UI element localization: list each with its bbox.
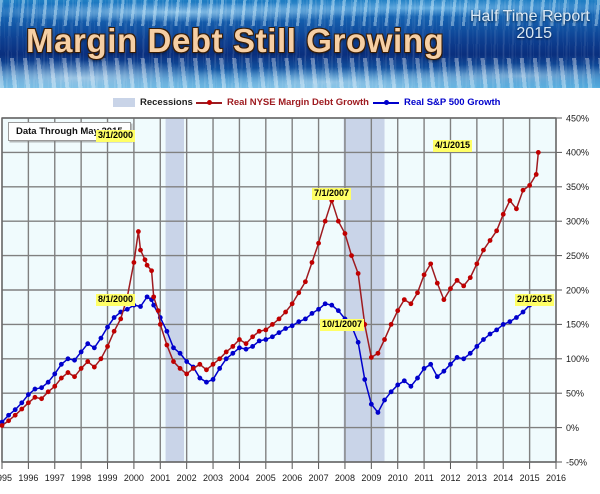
series-point (336, 308, 341, 313)
series-point (310, 311, 315, 316)
series-point (402, 378, 407, 383)
x-tick-label: 1999 (98, 473, 118, 483)
series-point (422, 366, 427, 371)
x-tick-label: 2006 (282, 473, 302, 483)
series-point (310, 260, 315, 265)
series-point (514, 206, 519, 211)
series-point (204, 380, 209, 385)
series-point (441, 297, 446, 302)
series-point (92, 345, 97, 350)
legend-item-recessions: Recessions (113, 97, 193, 108)
series-point (343, 231, 348, 236)
data-callout: 4/1/2015 (433, 140, 472, 152)
series-point (263, 328, 268, 333)
series-point (389, 389, 394, 394)
series-point (507, 198, 512, 203)
x-tick-label: 2014 (493, 473, 513, 483)
series-point (19, 400, 24, 405)
x-tick-label: 2010 (388, 473, 408, 483)
y-tick-label: 100% (566, 354, 589, 364)
x-tick-label: 2016 (546, 473, 566, 483)
series-point (171, 345, 176, 350)
series-point (85, 359, 90, 364)
series-point (112, 329, 117, 334)
series-point (455, 278, 460, 283)
series-point (481, 337, 486, 342)
x-tick-label: 2001 (150, 473, 170, 483)
series-point (184, 359, 189, 364)
series-point (230, 351, 235, 356)
series-point (138, 248, 143, 253)
series-point (448, 362, 453, 367)
series-point (461, 356, 466, 361)
y-tick-label: -50% (566, 457, 587, 467)
series-point (156, 308, 161, 313)
series-point (244, 341, 249, 346)
legend-label-recessions: Recessions (140, 97, 193, 108)
slide-root: Margin Debt Still Growing Half Time Repo… (0, 0, 600, 494)
series-point (534, 172, 539, 177)
series-point (461, 283, 466, 288)
series-point (105, 344, 110, 349)
series-point (178, 351, 183, 356)
series-point (481, 248, 486, 253)
series-point (33, 387, 38, 392)
x-tick-label: 2013 (467, 473, 487, 483)
x-tick-label: 1998 (71, 473, 91, 483)
x-tick-label: 2000 (124, 473, 144, 483)
series-point (164, 343, 169, 348)
series-point (277, 330, 282, 335)
line-marker-icon-blue (373, 98, 399, 107)
series-point (336, 219, 341, 224)
series-point (422, 272, 427, 277)
series-point (211, 362, 216, 367)
line-chart: 450%400%350%300%250%200%150%100%50%0%-50… (0, 112, 600, 494)
series-point (237, 345, 242, 350)
series-point (52, 372, 57, 377)
x-tick-label: 2012 (440, 473, 460, 483)
y-tick-label: 450% (566, 113, 589, 123)
series-point (26, 392, 31, 397)
series-point (6, 418, 11, 423)
report-year: 2015 (516, 25, 552, 43)
series-point (46, 389, 51, 394)
y-tick-label: 50% (566, 389, 584, 399)
series-point (376, 351, 381, 356)
y-tick-label: 150% (566, 320, 589, 330)
x-tick-label: 2004 (229, 473, 249, 483)
series-point (211, 377, 216, 382)
series-point (72, 358, 77, 363)
series-point (494, 328, 499, 333)
x-tick-label: 1995 (0, 473, 12, 483)
series-point (395, 383, 400, 388)
series-point (191, 366, 196, 371)
series-point (474, 261, 479, 266)
series-point (197, 362, 202, 367)
series-point (66, 356, 71, 361)
series-point (376, 410, 381, 415)
legend-label-margin-debt: Real NYSE Margin Debt Growth (227, 97, 369, 108)
series-point (435, 374, 440, 379)
series-point (85, 341, 90, 346)
legend-item-sp500: Real S&P 500 Growth (373, 97, 500, 108)
series-point (270, 334, 275, 339)
x-tick-label: 2005 (256, 473, 276, 483)
series-point (92, 365, 97, 370)
series-point (382, 398, 387, 403)
x-tick-label: 2003 (203, 473, 223, 483)
series-point (415, 290, 420, 295)
y-tick-label: 200% (566, 285, 589, 295)
series-point (52, 384, 57, 389)
series-point (270, 322, 275, 327)
series-point (369, 402, 374, 407)
y-tick-label: 300% (566, 217, 589, 227)
series-point (277, 316, 282, 321)
series-point (39, 396, 44, 401)
series-point (143, 257, 148, 262)
series-point (494, 228, 499, 233)
x-tick-label: 2002 (177, 473, 197, 483)
series-point (415, 376, 420, 381)
series-point (409, 384, 414, 389)
series-point (468, 351, 473, 356)
series-point (283, 326, 288, 331)
series-point (402, 297, 407, 302)
data-callout: 10/1/2007 (320, 319, 364, 331)
x-tick-label: 1996 (18, 473, 38, 483)
series-point (349, 253, 354, 258)
x-tick-label: 2015 (520, 473, 540, 483)
series-point (244, 347, 249, 352)
series-point (99, 336, 104, 341)
x-tick-label: 1997 (45, 473, 65, 483)
series-point (296, 319, 301, 324)
series-point (79, 350, 84, 355)
series-point (521, 310, 526, 315)
series-point (382, 337, 387, 342)
series-point (184, 372, 189, 377)
series-point (435, 281, 440, 286)
recession-swatch-icon (113, 98, 135, 107)
series-point (224, 350, 229, 355)
series-point (26, 400, 31, 405)
water-shimmer-bottom (0, 58, 600, 88)
series-point (428, 261, 433, 266)
data-callout: 8/1/2000 (96, 294, 135, 306)
series-point (197, 376, 202, 381)
y-tick-label: 0% (566, 423, 579, 433)
data-callout: 2/1/2015 (515, 294, 554, 306)
series-point (501, 212, 506, 217)
series-point (389, 322, 394, 327)
series-point (158, 322, 163, 327)
series-point (149, 268, 154, 273)
series-point (13, 413, 18, 418)
series-point (19, 407, 24, 412)
series-point (230, 344, 235, 349)
series-point (257, 329, 262, 334)
series-point (33, 395, 38, 400)
series-point (59, 376, 64, 381)
series-point (46, 380, 51, 385)
series-point (455, 355, 460, 360)
series-point (72, 374, 77, 379)
series-point (448, 286, 453, 291)
series-point (501, 322, 506, 327)
page-title: Margin Debt Still Growing (26, 22, 444, 60)
series-point (112, 315, 117, 320)
line-marker-icon-red (196, 98, 222, 107)
series-point (105, 325, 110, 330)
series-point (468, 275, 473, 280)
y-tick-label: 250% (566, 251, 589, 261)
series-point (125, 307, 130, 312)
data-callout: 7/1/2007 (312, 188, 351, 200)
series-point (316, 307, 321, 312)
series-point (263, 337, 268, 342)
y-tick-label: 350% (566, 182, 589, 192)
series-point (217, 356, 222, 361)
series-point (356, 271, 361, 276)
series-point (514, 315, 519, 320)
series-point (132, 260, 137, 265)
series-point (39, 385, 44, 390)
series-point (362, 377, 367, 382)
x-tick-label: 2007 (309, 473, 329, 483)
series-point (138, 304, 143, 309)
series-point (290, 301, 295, 306)
series-point (428, 362, 433, 367)
y-tick-label: 400% (566, 148, 589, 158)
series-point (79, 366, 84, 371)
header-banner: Margin Debt Still Growing Half Time Repo… (0, 0, 600, 88)
series-point (118, 316, 123, 321)
chart-container: 450%400%350%300%250%200%150%100%50%0%-50… (0, 112, 600, 494)
series-point (474, 344, 479, 349)
series-point (99, 356, 104, 361)
series-point (171, 359, 176, 364)
series-point (409, 301, 414, 306)
series-point (369, 355, 374, 360)
series-point (145, 263, 150, 268)
series-point (250, 344, 255, 349)
series-point (323, 301, 328, 306)
series-point (237, 337, 242, 342)
series-point (395, 308, 400, 313)
series-point (257, 339, 262, 344)
series-point (164, 329, 169, 334)
series-point (303, 279, 308, 284)
series-point (290, 323, 295, 328)
x-tick-label: 2008 (335, 473, 355, 483)
series-point (66, 370, 71, 375)
series-point (329, 303, 334, 308)
series-point (527, 183, 532, 188)
series-point (296, 290, 301, 295)
data-callout: 3/1/2000 (96, 130, 135, 142)
series-point (303, 316, 308, 321)
report-name: Half Time Report (470, 8, 590, 26)
series-point (356, 340, 361, 345)
legend-label-sp500: Real S&P 500 Growth (404, 97, 500, 108)
x-tick-label: 2011 (414, 473, 433, 483)
series-point (441, 369, 446, 374)
series-point (59, 362, 64, 367)
series-point (250, 334, 255, 339)
x-tick-label: 2009 (361, 473, 381, 483)
series-point (224, 356, 229, 361)
series-point (521, 188, 526, 193)
series-point (151, 294, 156, 299)
series-point (6, 413, 11, 418)
series-point (217, 366, 222, 371)
legend-item-margin-debt: Real NYSE Margin Debt Growth (196, 97, 369, 108)
series-point (536, 150, 541, 155)
series-point (178, 366, 183, 371)
series-point (204, 367, 209, 372)
series-point (507, 319, 512, 324)
series-point (145, 294, 150, 299)
series-point (488, 238, 493, 243)
series-point (136, 229, 141, 234)
series-point (283, 310, 288, 315)
series-point (316, 241, 321, 246)
series-point (488, 332, 493, 337)
series-point (13, 407, 18, 412)
series-point (323, 219, 328, 224)
